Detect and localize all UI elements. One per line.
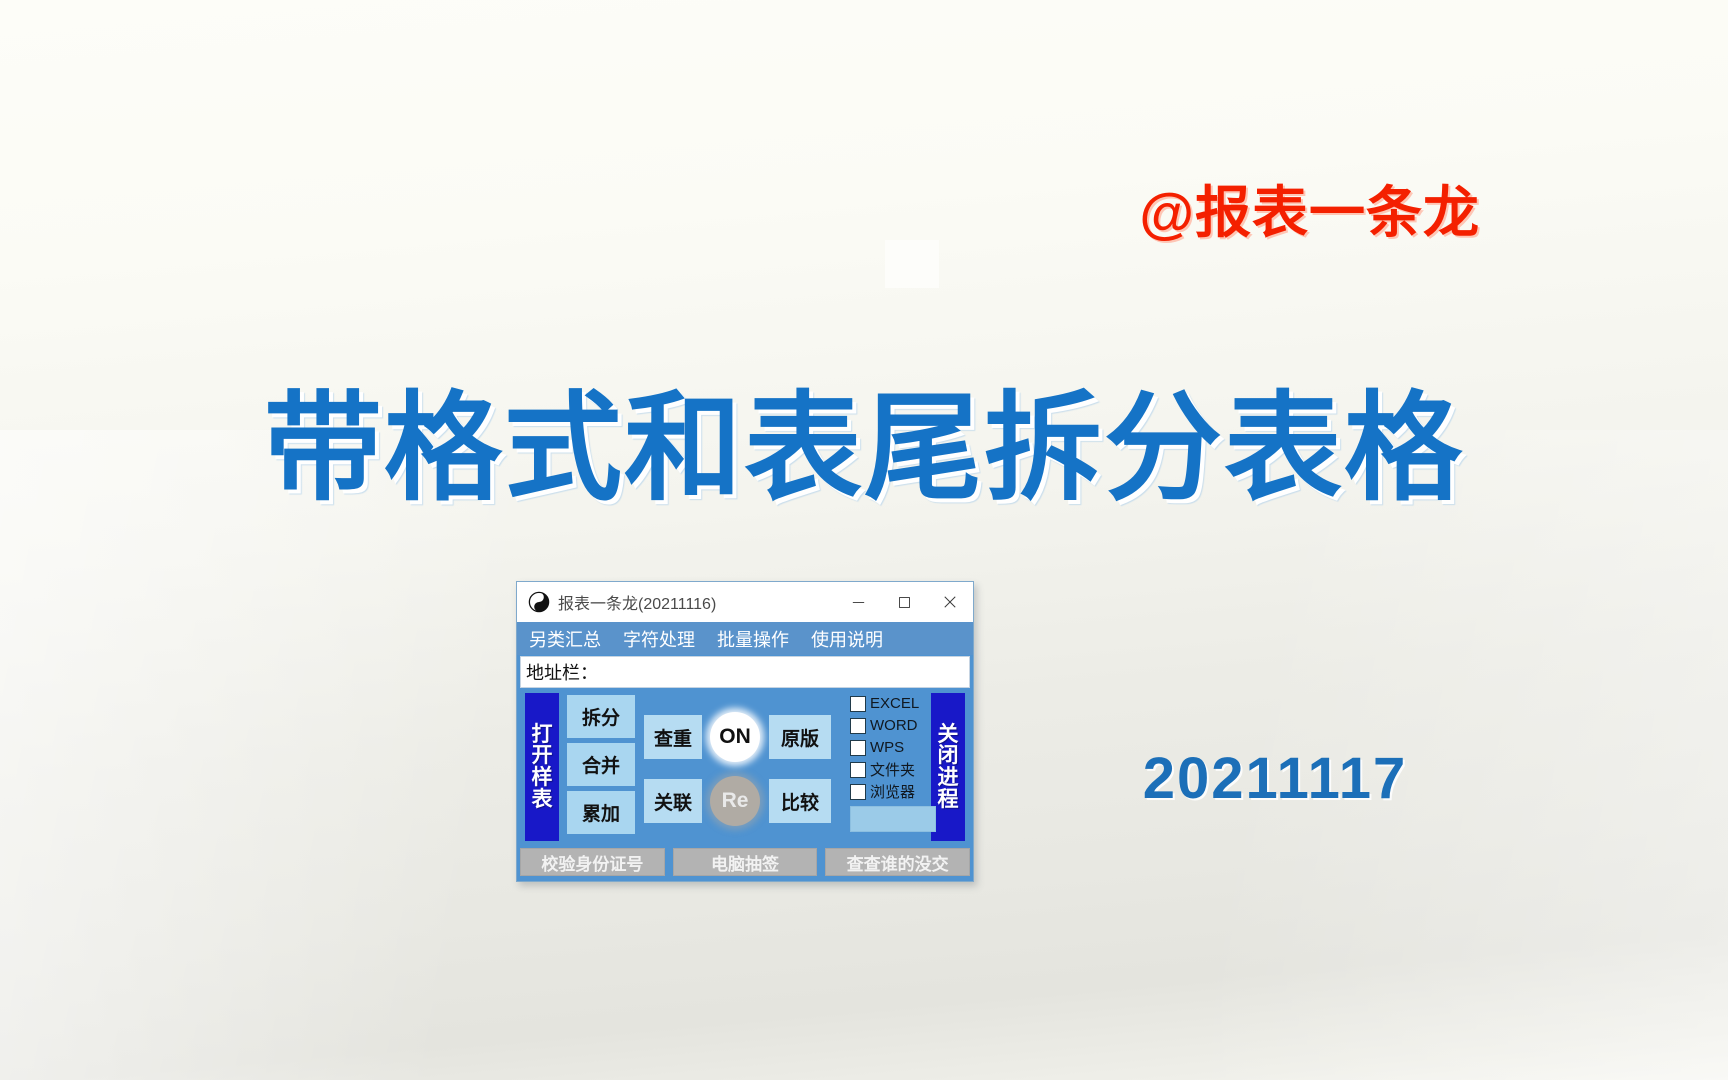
check-missing-button[interactable]: 查查谁的没交 [825, 848, 970, 876]
open-sample-char-4: 表 [532, 789, 553, 811]
footer-bar: 校验身份证号 电脑抽签 查查谁的没交 [520, 847, 970, 877]
close-icon[interactable] [927, 582, 973, 622]
open-sample-button[interactable]: 打 开 样 表 [525, 693, 559, 841]
menu-item-summary[interactable]: 另类汇总 [529, 626, 601, 652]
format-checkbox-group: EXCEL WORD WPS 文件夹 浏览器 [850, 693, 936, 832]
window-title: 报表一条龙(20211116) [558, 590, 716, 614]
re-toggle[interactable]: Re [710, 776, 760, 826]
split-button[interactable]: 拆分 [567, 695, 635, 738]
merge-button[interactable]: 合并 [567, 743, 635, 786]
checkbox-row-folder[interactable]: 文件夹 [850, 759, 936, 780]
slide-canvas: @报表一条龙 带格式和表尾拆分表格 20211117 报表一条龙(2021111… [0, 0, 1728, 1080]
relate-button[interactable]: 关联 [644, 779, 702, 823]
menu-item-batch[interactable]: 批量操作 [717, 626, 789, 652]
on-toggle[interactable]: ON [710, 712, 760, 762]
app-window: 报表一条龙(20211116) 另类汇总 字符处理 [516, 581, 974, 882]
open-sample-char-1: 打 [532, 724, 553, 746]
address-bar-label: 地址栏： [526, 659, 598, 685]
checkbox-browser[interactable] [850, 784, 866, 800]
verify-id-button[interactable]: 校验身份证号 [520, 848, 665, 876]
checkbox-row-wps[interactable]: WPS [850, 737, 936, 758]
address-bar[interactable]: 地址栏： [520, 656, 970, 688]
close-process-char-3: 进 [938, 767, 959, 789]
window-titlebar: 报表一条龙(20211116) [517, 582, 973, 622]
original-button[interactable]: 原版 [769, 715, 831, 759]
checkbox-label-wps: WPS [870, 739, 904, 756]
checkbox-label-word: WORD [870, 717, 918, 734]
maximize-icon[interactable] [881, 582, 927, 622]
accumulate-button[interactable]: 累加 [567, 791, 635, 834]
menu-item-characters[interactable]: 字符处理 [623, 626, 695, 652]
date-stamp: 20211117 [1075, 745, 1475, 812]
page-title: 带格式和表尾拆分表格 [0, 352, 1728, 523]
checkbox-word[interactable] [850, 718, 866, 734]
checkbox-label-browser: 浏览器 [870, 781, 915, 802]
close-process-char-2: 闭 [938, 745, 959, 767]
checkbox-folder[interactable] [850, 762, 866, 778]
close-process-char-4: 程 [938, 789, 959, 811]
checkbox-label-excel: EXCEL [870, 695, 919, 712]
yinyang-icon [528, 591, 550, 613]
open-sample-char-3: 样 [532, 767, 553, 789]
close-process-button[interactable]: 关 闭 进 程 [931, 693, 965, 841]
checkbox-row-word[interactable]: WORD [850, 715, 936, 736]
watermark-handle: @报表一条龙 [1080, 168, 1480, 249]
menu-bar: 另类汇总 字符处理 批量操作 使用说明 [517, 622, 973, 655]
close-process-char-1: 关 [938, 724, 959, 746]
checkbox-label-folder: 文件夹 [870, 759, 915, 780]
checkbox-row-browser[interactable]: 浏览器 [850, 781, 936, 802]
menu-item-help[interactable]: 使用说明 [811, 626, 883, 652]
button-grid: 打 开 样 表 关 闭 进 程 拆分 合并 累加 查重 关联 ON Re 原版 [520, 691, 970, 844]
checkbox-wps[interactable] [850, 740, 866, 756]
dedupe-button[interactable]: 查重 [644, 715, 702, 759]
random-draw-button[interactable]: 电脑抽签 [673, 848, 818, 876]
minimize-icon[interactable] [835, 582, 881, 622]
white-square-artifact [885, 240, 939, 288]
checkbox-row-excel[interactable]: EXCEL [850, 693, 936, 714]
compare-button[interactable]: 比较 [769, 779, 831, 823]
open-sample-char-2: 开 [532, 745, 553, 767]
checkbox-input-field[interactable] [850, 806, 936, 832]
checkbox-excel[interactable] [850, 696, 866, 712]
